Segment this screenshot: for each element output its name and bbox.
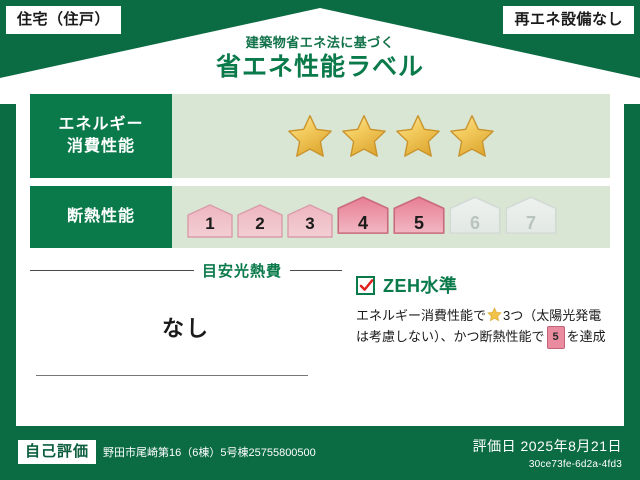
zeh-desc-part2: は考慮しない）、かつ断熱性能で (356, 329, 545, 344)
insulation-level-number: 7 (526, 213, 536, 234)
zeh-desc-part1: エネルギー消費性能で (356, 308, 486, 323)
evaluation-date-value: 2025年8月21日 (520, 438, 622, 454)
insulation-level-number: 6 (470, 213, 480, 234)
insulation-level-1: 1 (186, 204, 234, 238)
insulation-level-3: 3 (286, 204, 334, 238)
insulation-performance-label: 断熱性能 (30, 186, 172, 248)
insulation-performance-value: 1234567 (172, 186, 610, 248)
energy-label-root: 住宅（住戸） 再エネ設備なし 建築物省エネ法に基づく 省エネ性能ラベル エネルギ… (0, 0, 640, 480)
star-icon (394, 113, 442, 159)
zeh-checkbox[interactable] (356, 276, 375, 295)
footer-right: 評価日 2025年8月21日 30ce73fe-6d2a-4fd3 (473, 436, 622, 470)
energy-performance-label-line2: 消費性能 (67, 136, 135, 158)
evaluation-id: 30ce73fe-6d2a-4fd3 (473, 459, 622, 470)
insulation-level-5: 5 (392, 196, 446, 238)
insulation-performance-row: 断熱性能 1234567 (30, 186, 610, 248)
lower-section: 目安光熱費 なし ZEH水準 エネルギー消費性能で (30, 258, 610, 408)
energy-performance-value (172, 94, 610, 178)
utility-cost-rule-right (290, 270, 342, 271)
zeh-desc-part3: を達成 (567, 329, 606, 344)
zeh-description: エネルギー消費性能で 3つ（太陽光発電 は考慮しない）、かつ断熱性能で5を達成 (356, 305, 610, 349)
insulation-level-number: 2 (255, 214, 264, 234)
utility-cost-rule-left (30, 270, 194, 271)
zeh-title: ZEH水準 (383, 272, 458, 298)
insulation-level-2: 2 (236, 204, 284, 238)
insulation-level-number: 5 (414, 213, 424, 234)
zeh-block: ZEH水準 エネルギー消費性能で 3つ（太陽光発電 は考慮しない）、かつ断熱性能… (348, 258, 610, 408)
renewable-energy-badge: 再エネ設備なし (503, 6, 634, 34)
energy-performance-row: エネルギー 消費性能 (30, 94, 610, 178)
footer-left: 自己評価 野田市尾崎第16（6棟）5号棟25755800500 (18, 440, 316, 464)
label-body-panel: エネルギー 消費性能 断熱性能 1234567 目安光熱費 (16, 86, 624, 426)
utility-cost-heading-text: 目安光熱費 (202, 260, 282, 281)
zeh-desc-stars: 3つ（太陽光発電 (503, 308, 601, 323)
insulation-level-6: 6 (448, 196, 502, 238)
star-icon (448, 113, 496, 159)
insulation-level-number: 1 (205, 214, 214, 234)
star-rating (286, 113, 496, 159)
label-footer: 自己評価 野田市尾崎第16（6棟）5号棟25755800500 評価日 2025… (0, 426, 640, 480)
evaluation-date: 評価日 2025年8月21日 (473, 436, 622, 456)
self-evaluation-badge: 自己評価 (18, 440, 96, 464)
utility-cost-heading: 目安光熱費 (30, 260, 342, 281)
zeh-desc-level-chip: 5 (547, 326, 565, 348)
zeh-heading: ZEH水準 (356, 272, 610, 298)
insulation-level-4: 4 (336, 196, 390, 238)
utility-cost-value: なし (30, 311, 342, 343)
star-icon (340, 113, 388, 159)
star-icon (487, 307, 502, 322)
insulation-level-number: 3 (305, 214, 314, 234)
energy-performance-label: エネルギー 消費性能 (30, 94, 172, 178)
utility-cost-block: 目安光熱費 なし (30, 258, 348, 408)
housing-type-badge: 住宅（住戸） (6, 6, 121, 34)
star-icon (286, 113, 334, 159)
utility-cost-underline (36, 375, 308, 376)
insulation-performance-label-text: 断熱性能 (67, 206, 135, 228)
insulation-level-scale: 1234567 (186, 196, 558, 238)
property-address: 野田市尾崎第16（6棟）5号棟25755800500 (103, 444, 316, 460)
evaluation-date-label: 評価日 (473, 438, 517, 454)
energy-performance-label-line1: エネルギー (58, 114, 143, 136)
insulation-level-number: 4 (358, 213, 368, 234)
insulation-level-7: 7 (504, 196, 558, 238)
